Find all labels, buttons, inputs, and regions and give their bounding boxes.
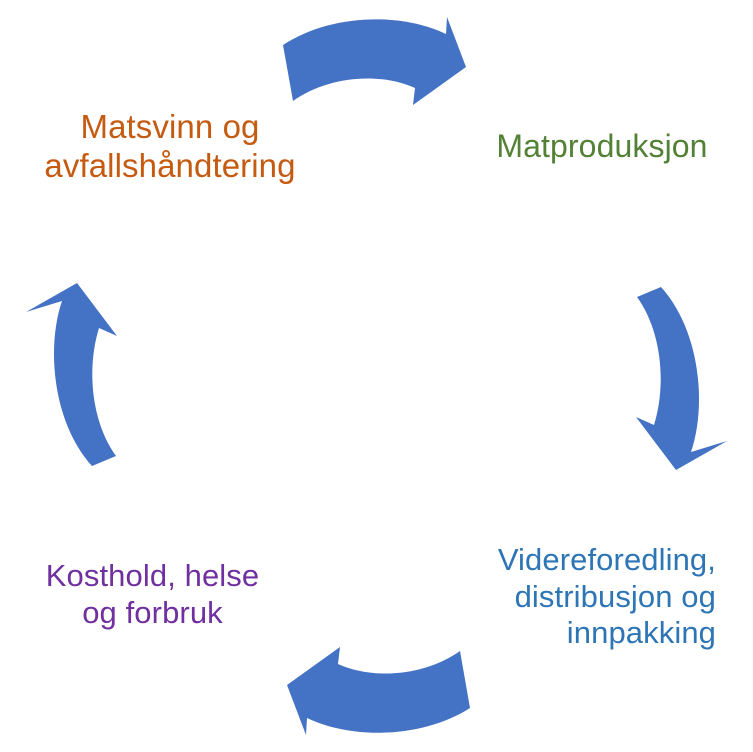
- stage-label-matproduksjon: Matproduksjon: [452, 128, 752, 166]
- stage-label-videreforedling: Videreforedling, distribusjon og innpakk…: [416, 542, 716, 652]
- stage-label-matsvinn: Matsvinn og avfallshåndtering: [0, 108, 340, 186]
- arrow-right-icon: [283, 17, 466, 105]
- stage-label-kosthold: Kosthold, helse og forbruk: [10, 558, 295, 631]
- arrow-left-icon: [287, 647, 470, 735]
- arrow-up-icon: [26, 283, 117, 466]
- diagram-canvas: Matsvinn og avfallshåndtering Matproduks…: [0, 0, 753, 752]
- arrow-down-icon: [636, 287, 727, 470]
